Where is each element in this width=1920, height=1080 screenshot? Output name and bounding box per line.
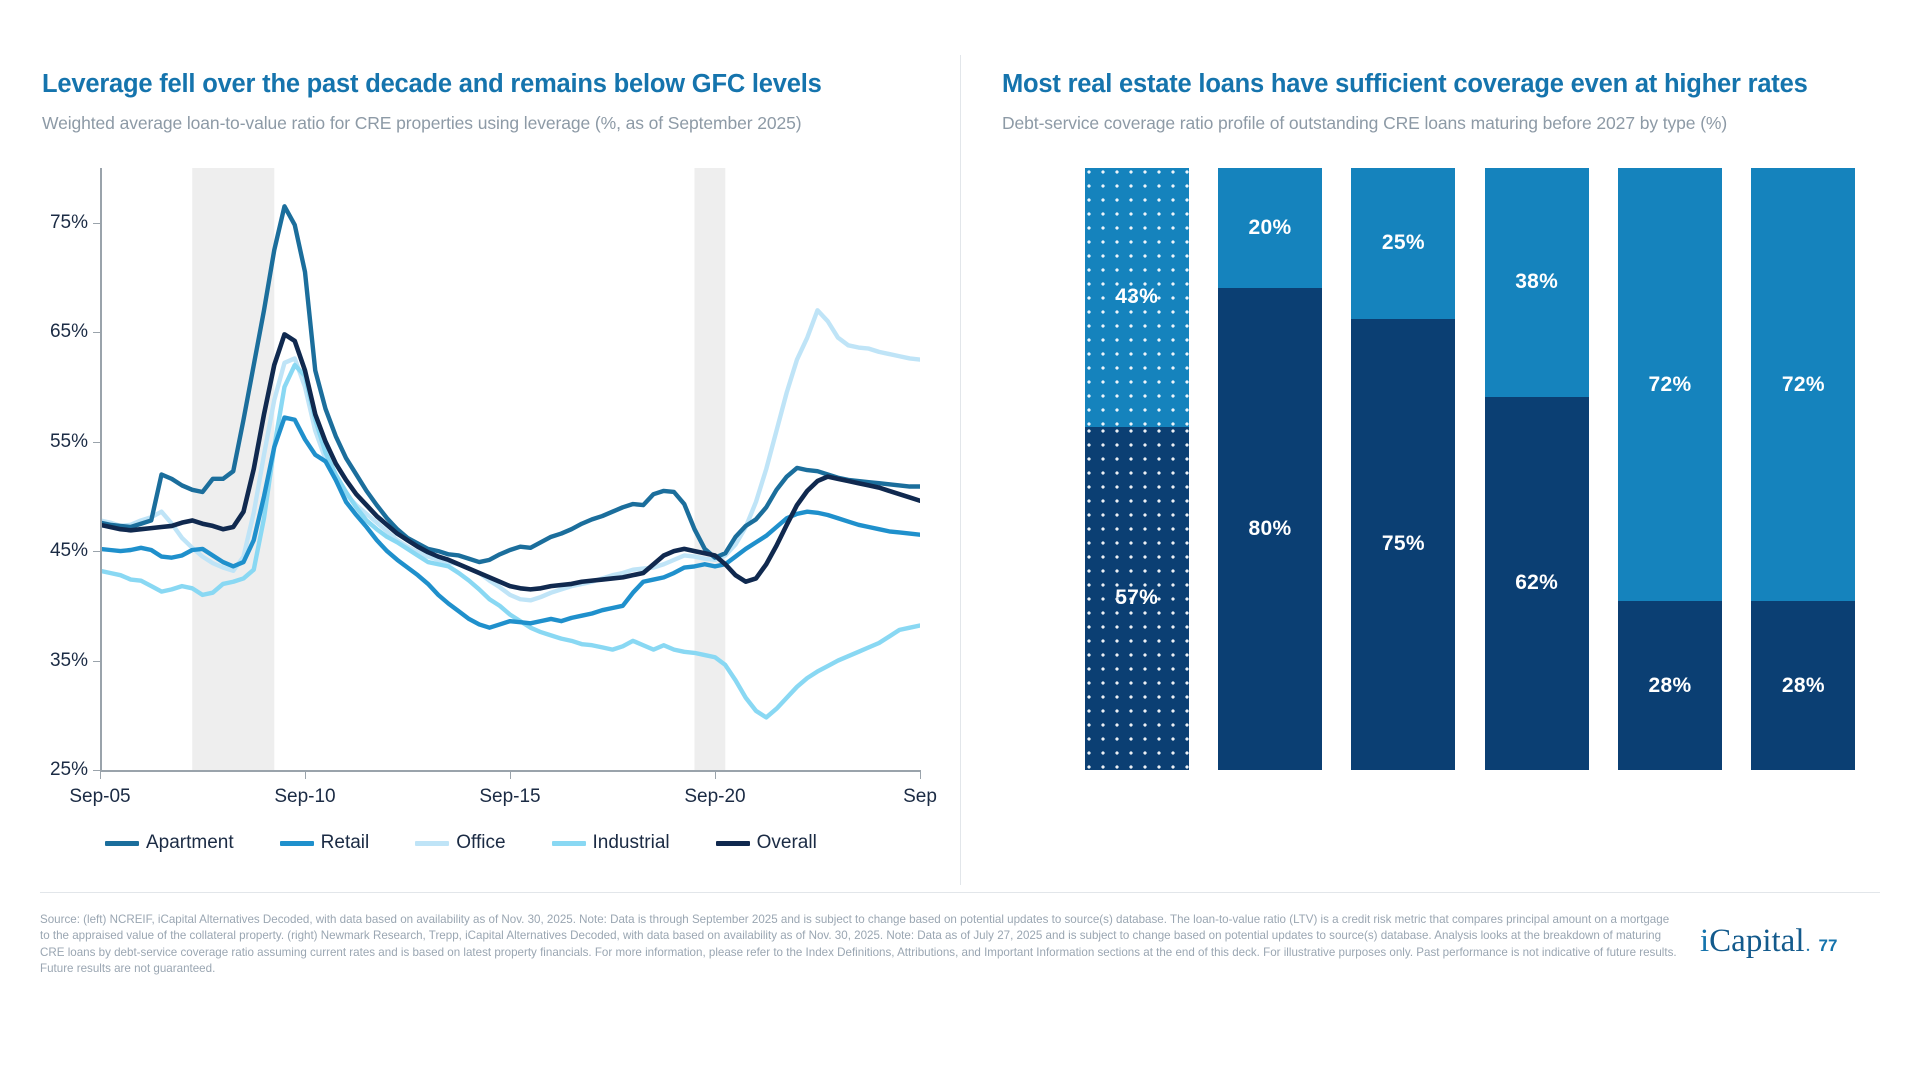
logo-capital-text: Capital — [1709, 925, 1804, 958]
bar-column-overall[interactable]: 57%43% — [1085, 168, 1189, 770]
bar-segment-lower-risk: 28% — [1751, 601, 1855, 770]
legend-swatch-icon — [552, 841, 586, 846]
left-chart-panel: Leverage fell over the past decade and r… — [0, 0, 960, 900]
left-chart-title: Leverage fell over the past decade and r… — [42, 70, 922, 99]
bar-column-industrial[interactable]: 28%72% — [1751, 168, 1855, 770]
x-tick — [510, 770, 511, 779]
bar-column-multifamily[interactable]: 28%72% — [1618, 168, 1722, 770]
legend-label: Apartment — [146, 832, 234, 854]
x-tick-label: Sep-10 — [235, 786, 375, 808]
y-tick — [93, 332, 100, 333]
source-footnote: Source: (left) NCREIF, iCapital Alternat… — [40, 912, 1680, 978]
bar-value-label-lower: 28% — [1618, 674, 1722, 698]
page-number: 77 — [1818, 936, 1837, 956]
bar-segment-lower-risk: 62% — [1485, 397, 1589, 770]
bar-segment-lower-risk: 57% — [1085, 427, 1189, 770]
legend-label: Industrial — [593, 832, 670, 854]
bar-value-label-higher: 38% — [1485, 270, 1589, 294]
y-tick — [93, 770, 100, 771]
bar-value-label-lower: 62% — [1485, 571, 1589, 595]
x-tick-label: Sep-15 — [440, 786, 580, 808]
recession-band — [695, 168, 726, 770]
x-tick — [920, 770, 921, 779]
right-chart-title: Most real estate loans have sufficient c… — [1002, 70, 1882, 99]
legend-item-retail[interactable]: Retail — [280, 832, 370, 854]
bar-value-label-lower: 75% — [1351, 532, 1455, 556]
y-tick — [93, 661, 100, 662]
bar-value-label-lower: 28% — [1751, 674, 1855, 698]
legend-swatch-icon — [105, 841, 139, 846]
x-tick — [100, 770, 101, 779]
legend-swatch-icon — [716, 841, 750, 846]
y-tick-label: 65% — [10, 321, 88, 343]
bar-value-label-higher: 25% — [1351, 231, 1455, 255]
footer-divider — [40, 892, 1880, 893]
x-tick — [305, 770, 306, 779]
bar-column-office[interactable]: 62%38% — [1485, 168, 1589, 770]
right-chart-subtitle: Debt-service coverage ratio profile of o… — [1002, 113, 1892, 134]
logo-i-mark: i — [1700, 925, 1709, 958]
bar-segment-higher-risk: 25% — [1351, 168, 1455, 319]
x-tick — [715, 770, 716, 779]
y-tick — [93, 223, 100, 224]
bar-value-label-lower: 80% — [1218, 517, 1322, 541]
left-y-axis — [100, 168, 102, 770]
legend-item-industrial[interactable]: Industrial — [552, 832, 670, 854]
slide-root: Leverage fell over the past decade and r… — [0, 0, 1920, 1080]
x-tick-label: Sep-20 — [645, 786, 785, 808]
bar-segment-higher-risk: 38% — [1485, 168, 1589, 397]
y-tick-label: 35% — [10, 650, 88, 672]
y-tick — [93, 551, 100, 552]
legend-label: Retail — [321, 832, 370, 854]
bar-value-label-lower: 57% — [1085, 586, 1189, 610]
x-tick-label: Sep-05 — [30, 786, 170, 808]
y-tick — [93, 442, 100, 443]
legend-item-office[interactable]: Office — [415, 832, 505, 854]
bar-segment-lower-risk: 28% — [1618, 601, 1722, 770]
bar-segment-higher-risk: 72% — [1618, 168, 1722, 601]
bar-segment-higher-risk: 20% — [1218, 168, 1322, 288]
legend-item-apartment[interactable]: Apartment — [105, 832, 234, 854]
legend-label: Overall — [757, 832, 817, 854]
legend-item-overall[interactable]: Overall — [716, 832, 817, 854]
left-chart-subtitle: Weighted average loan-to-value ratio for… — [42, 113, 932, 134]
bar-segment-higher-risk: 72% — [1751, 168, 1855, 601]
bar-column-hotel[interactable]: 75%25% — [1351, 168, 1455, 770]
bar-value-label-higher: 72% — [1618, 373, 1722, 397]
dscr-stacked-bar-chart: 57%43%80%20%75%25%62%38%28%72%28%72% — [1070, 168, 1870, 770]
bar-value-label-higher: 43% — [1085, 285, 1189, 309]
logo-period: . — [1805, 934, 1810, 957]
icapital-logo: i Capital . 77 — [1700, 925, 1837, 958]
legend-swatch-icon — [280, 841, 314, 846]
bar-segment-lower-risk: 75% — [1351, 319, 1455, 771]
bar-segment-higher-risk: 43% — [1085, 168, 1189, 427]
bar-value-label-higher: 20% — [1218, 216, 1322, 240]
y-tick-label: 25% — [10, 759, 88, 781]
line-chart-legend: ApartmentRetailOfficeIndustrialOverall — [105, 832, 863, 854]
bar-column-retail[interactable]: 80%20% — [1218, 168, 1322, 770]
bar-value-label-higher: 72% — [1751, 373, 1855, 397]
ltv-line-chart — [100, 168, 920, 770]
y-tick-label: 55% — [10, 431, 88, 453]
line-chart-svg — [100, 168, 920, 770]
right-chart-panel: Most real estate loans have sufficient c… — [960, 0, 1920, 900]
y-tick-label: 75% — [10, 212, 88, 234]
y-tick-label: 45% — [10, 540, 88, 562]
legend-label: Office — [456, 832, 505, 854]
legend-swatch-icon — [415, 841, 449, 846]
bar-segment-lower-risk: 80% — [1218, 288, 1322, 770]
